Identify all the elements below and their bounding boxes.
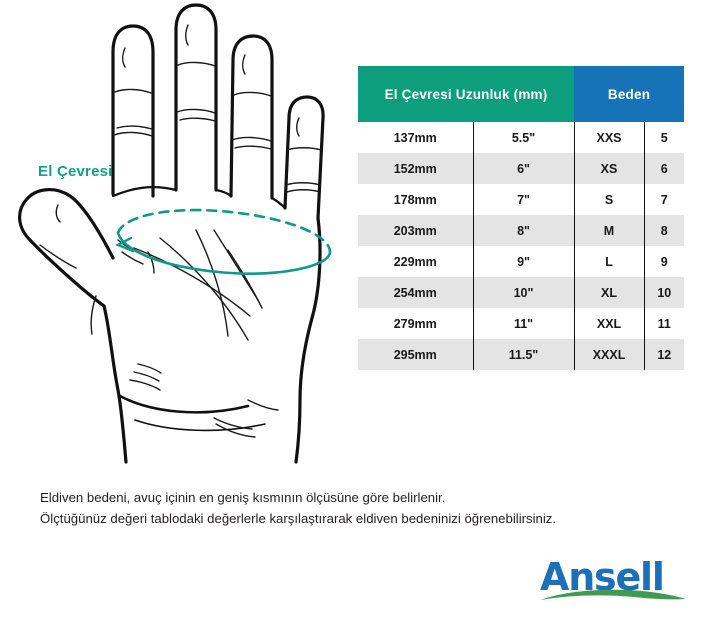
cell-inch: 9" [473,246,574,277]
table-row: 229mm 9" L 9 [358,246,684,277]
cell-number: 5 [644,122,684,153]
cell-inch: 5.5" [473,122,574,153]
table-row: 152mm 6" XS 6 [358,153,684,184]
cell-mm: 152mm [358,153,473,184]
header-size: Beden [574,66,684,122]
header-hand-circumference: El Çevresi Uzunluk (mm) [358,66,574,122]
ansell-swoosh-icon [538,588,688,604]
cell-mm: 279mm [358,308,473,339]
cell-letter: L [574,246,644,277]
cell-number: 6 [644,153,684,184]
instructions-caption: Eldiven bedeni, avuç içinin en geniş kıs… [40,487,670,529]
cell-number: 8 [644,215,684,246]
cell-number: 11 [644,308,684,339]
cell-inch: 7" [473,184,574,215]
table-header-row: El Çevresi Uzunluk (mm) Beden [358,66,684,122]
cell-letter: S [574,184,644,215]
cell-number: 7 [644,184,684,215]
cell-mm: 229mm [358,246,473,277]
cell-inch: 6" [473,153,574,184]
table-row: 295mm 11.5" XXXL 12 [358,339,684,370]
glove-size-table: El Çevresi Uzunluk (mm) Beden 137mm 5.5"… [358,66,684,370]
cell-mm: 178mm [358,184,473,215]
cell-number: 10 [644,277,684,308]
caption-line-2: Ölçtüğünüz değeri tablodaki değerlerle k… [40,508,670,529]
ansell-logo: Ansell [538,558,688,606]
table-row: 254mm 10" XL 10 [358,277,684,308]
table-row: 137mm 5.5" XXS 5 [358,122,684,153]
cell-mm: 137mm [358,122,473,153]
cell-number: 9 [644,246,684,277]
hand-circumference-label: El Çevresi [38,163,113,180]
cell-inch: 10" [473,277,574,308]
cell-letter: XXS [574,122,644,153]
cell-inch: 11" [473,308,574,339]
table-row: 203mm 8" M 8 [358,215,684,246]
table-row: 279mm 11" XXL 11 [358,308,684,339]
cell-letter: XXXL [574,339,644,370]
cell-letter: M [574,215,644,246]
hand-illustration: El Çevresi [0,0,350,480]
cell-inch: 8" [473,215,574,246]
caption-line-1: Eldiven bedeni, avuç içinin en geniş kıs… [40,487,670,508]
cell-letter: XXL [574,308,644,339]
cell-letter: XL [574,277,644,308]
table-body: 137mm 5.5" XXS 5 152mm 6" XS 6 178mm 7" … [358,122,684,370]
table-row: 178mm 7" S 7 [358,184,684,215]
cell-inch: 11.5" [473,339,574,370]
cell-letter: XS [574,153,644,184]
cell-mm: 203mm [358,215,473,246]
cell-mm: 295mm [358,339,473,370]
cell-mm: 254mm [358,277,473,308]
cell-number: 12 [644,339,684,370]
